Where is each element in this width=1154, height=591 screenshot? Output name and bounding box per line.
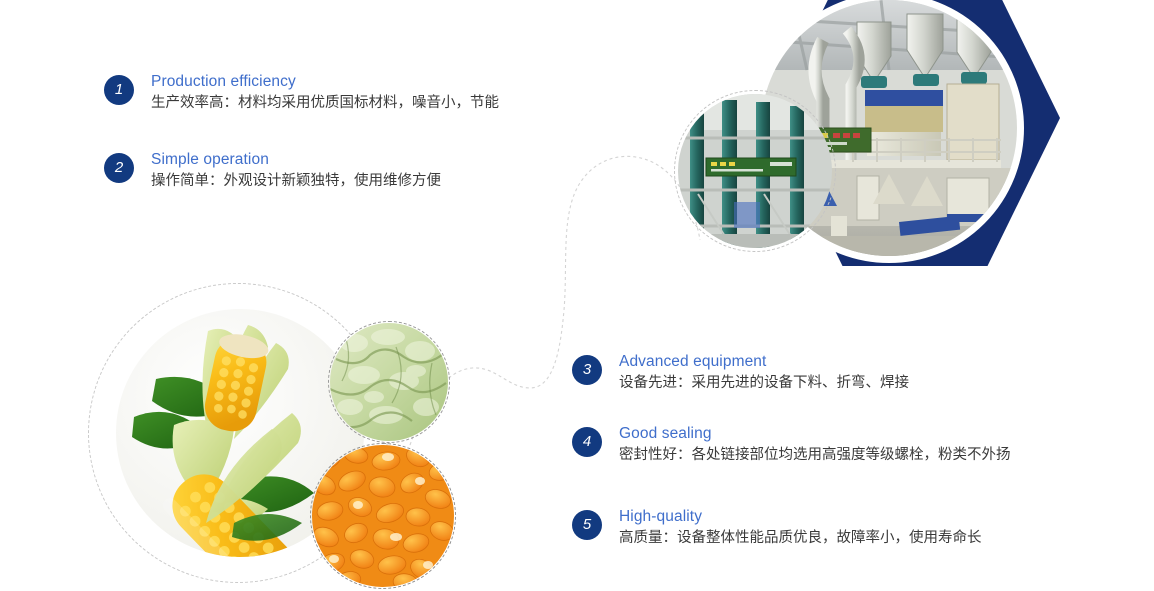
hex-photo-small: [678, 94, 832, 248]
feature-desc-4: 密封性好：各处链接部位均选用高强度等级螺栓，粉类不外扬: [619, 444, 1011, 466]
feature-desc-2: 操作简单：外观设计新颖独特，使用维修方便: [151, 170, 441, 192]
feature-badge-2: 2: [104, 153, 134, 183]
feature-item-3[interactable]: 3 Advanced equipment 设备先进：采用先进的设备下料、折弯、焊…: [572, 352, 909, 394]
corn-kernels-photo: [312, 445, 454, 587]
feature-title-5: High-quality: [619, 507, 982, 526]
feature-title-4: Good sealing: [619, 424, 1011, 443]
feature-item-5[interactable]: 5 High-quality 高质量：设备整体性能品质优良，故障率小，使用寿命长: [572, 507, 982, 549]
feature-desc-1: 生产效率高：材料均采用优质国标材料，噪音小，节能: [151, 92, 499, 114]
feature-title-2: Simple operation: [151, 150, 441, 169]
feature-title-3: Advanced equipment: [619, 352, 909, 371]
feature-badge-5: 5: [572, 510, 602, 540]
feature-item-4[interactable]: 4 Good sealing 密封性好：各处链接部位均选用高强度等级螺栓，粉类不…: [572, 424, 1011, 466]
corn-paste-photo: [330, 323, 448, 441]
feature-desc-5: 高质量：设备整体性能品质优良，故障率小，使用寿命长: [619, 527, 982, 549]
feature-item-1[interactable]: 1 Production efficiency 生产效率高：材料均采用优质国标材…: [104, 72, 499, 114]
feature-title-1: Production efficiency: [151, 72, 499, 91]
feature-badge-3: 3: [572, 355, 602, 385]
feature-desc-3: 设备先进：采用先进的设备下料、折弯、焊接: [619, 372, 909, 394]
feature-text-3: Advanced equipment 设备先进：采用先进的设备下料、折弯、焊接: [619, 352, 909, 394]
feature-badge-1: 1: [104, 75, 134, 105]
feature-text-1: Production efficiency 生产效率高：材料均采用优质国标材料，…: [151, 72, 499, 114]
feature-item-2[interactable]: 2 Simple operation 操作简单：外观设计新颖独特，使用维修方便: [104, 150, 441, 192]
feature-infographic: 1 Production efficiency 生产效率高：材料均采用优质国标材…: [0, 0, 1154, 591]
feature-badge-4: 4: [572, 427, 602, 457]
feature-text-4: Good sealing 密封性好：各处链接部位均选用高强度等级螺栓，粉类不外扬: [619, 424, 1011, 466]
corn-photo-group: [88, 283, 508, 591]
feature-text-5: High-quality 高质量：设备整体性能品质优良，故障率小，使用寿命长: [619, 507, 982, 549]
hexagon-photo-group: [660, 0, 1080, 300]
feature-text-2: Simple operation 操作简单：外观设计新颖独特，使用维修方便: [151, 150, 441, 192]
